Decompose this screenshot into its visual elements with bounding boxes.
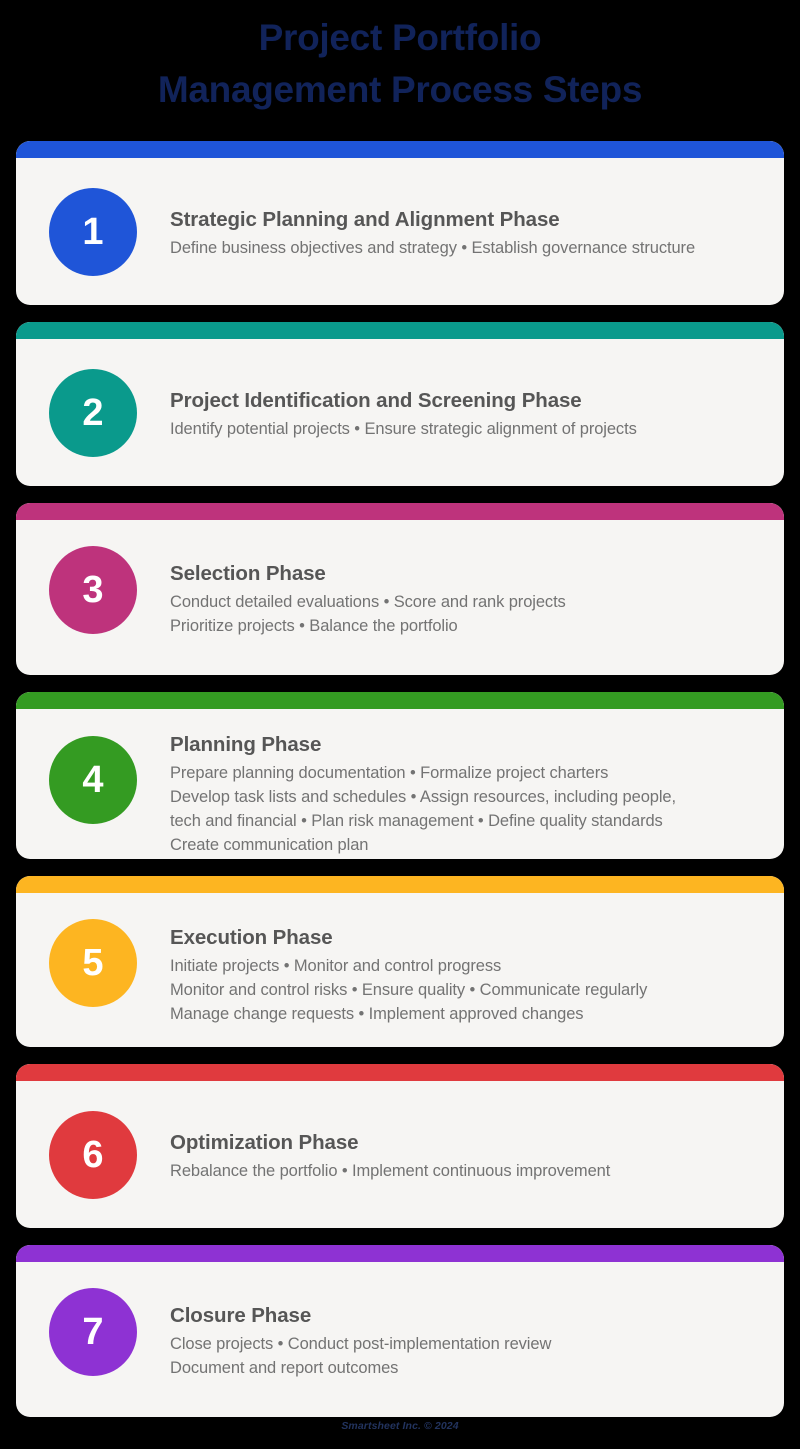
- step-card-1[interactable]: 1Strategic Planning and Alignment PhaseD…: [16, 141, 784, 305]
- step-text-container: Selection PhaseConduct detailed evaluati…: [170, 520, 784, 638]
- step-title: Closure Phase: [170, 1302, 758, 1329]
- page-title-line-1: Project Portfolio: [0, 12, 800, 64]
- step-card-2[interactable]: 2Project Identification and Screening Ph…: [16, 322, 784, 486]
- step-description-line: Monitor and control risks • Ensure quali…: [170, 978, 758, 1002]
- step-badge-container: 4: [16, 709, 170, 824]
- step-description-line: Document and report outcomes: [170, 1356, 758, 1380]
- step-card-body: 2Project Identification and Screening Ph…: [16, 322, 784, 457]
- steps-list: 1Strategic Planning and Alignment PhaseD…: [16, 141, 784, 1434]
- step-card-body: 5Execution PhaseInitiate projects • Moni…: [16, 876, 784, 1026]
- step-description-line: Conduct detailed evaluations • Score and…: [170, 590, 758, 614]
- step-description-line: Define business objectives and strategy …: [170, 236, 758, 260]
- step-card-5[interactable]: 5Execution PhaseInitiate projects • Moni…: [16, 876, 784, 1047]
- step-number-badge: 3: [49, 546, 137, 634]
- step-description-line: Rebalance the portfolio • Implement cont…: [170, 1159, 758, 1183]
- step-text-container: Planning PhasePrepare planning documenta…: [170, 709, 784, 857]
- step-badge-container: 6: [16, 1081, 170, 1199]
- step-card-body: 6Optimization PhaseRebalance the portfol…: [16, 1064, 784, 1199]
- step-text-container: Execution PhaseInitiate projects • Monit…: [170, 893, 784, 1026]
- page-title-line-2: Management Process Steps: [0, 64, 800, 116]
- step-description-line: Develop task lists and schedules • Assig…: [170, 785, 758, 809]
- step-card-body: 3Selection PhaseConduct detailed evaluat…: [16, 503, 784, 638]
- step-description-line: Prepare planning documentation • Formali…: [170, 761, 758, 785]
- step-title: Selection Phase: [170, 560, 758, 587]
- step-title: Execution Phase: [170, 924, 758, 951]
- step-description-line: Identify potential projects • Ensure str…: [170, 417, 758, 441]
- step-badge-container: 3: [16, 520, 170, 634]
- step-text-container: Closure PhaseClose projects • Conduct po…: [170, 1262, 784, 1380]
- step-badge-container: 7: [16, 1262, 170, 1376]
- step-card-3[interactable]: 3Selection PhaseConduct detailed evaluat…: [16, 503, 784, 675]
- step-description-line: Manage change requests • Implement appro…: [170, 1002, 758, 1026]
- step-description-line: Create communication plan: [170, 833, 758, 857]
- step-number-badge: 7: [49, 1288, 137, 1376]
- step-card-body: 4Planning PhasePrepare planning document…: [16, 692, 784, 857]
- step-number-badge: 5: [49, 919, 137, 1007]
- step-card-body: 7Closure PhaseClose projects • Conduct p…: [16, 1245, 784, 1380]
- page-title: Project Portfolio Management Process Ste…: [0, 12, 800, 116]
- step-card-body: 1Strategic Planning and Alignment PhaseD…: [16, 141, 784, 276]
- step-title: Planning Phase: [170, 731, 758, 758]
- step-number-badge: 2: [49, 369, 137, 457]
- step-number-badge: 1: [49, 188, 137, 276]
- step-number-badge: 6: [49, 1111, 137, 1199]
- step-title: Strategic Planning and Alignment Phase: [170, 206, 758, 233]
- step-badge-container: 1: [16, 158, 170, 276]
- step-text-container: Strategic Planning and Alignment PhaseDe…: [170, 158, 784, 260]
- step-badge-container: 5: [16, 893, 170, 1007]
- step-text-container: Optimization PhaseRebalance the portfoli…: [170, 1081, 784, 1183]
- step-description-line: Initiate projects • Monitor and control …: [170, 954, 758, 978]
- step-description-line: Close projects • Conduct post-implementa…: [170, 1332, 758, 1356]
- step-card-4[interactable]: 4Planning PhasePrepare planning document…: [16, 692, 784, 859]
- footer-attribution: Smartsheet Inc. © 2024: [0, 1420, 800, 1432]
- step-card-6[interactable]: 6Optimization PhaseRebalance the portfol…: [16, 1064, 784, 1228]
- step-title: Project Identification and Screening Pha…: [170, 387, 758, 414]
- step-description-line: tech and financial • Plan risk managemen…: [170, 809, 758, 833]
- infographic-root: Project Portfolio Management Process Ste…: [0, 0, 800, 1449]
- step-number-badge: 4: [49, 736, 137, 824]
- step-text-container: Project Identification and Screening Pha…: [170, 339, 784, 441]
- step-card-7[interactable]: 7Closure PhaseClose projects • Conduct p…: [16, 1245, 784, 1417]
- step-title: Optimization Phase: [170, 1129, 758, 1156]
- step-badge-container: 2: [16, 339, 170, 457]
- step-description-line: Prioritize projects • Balance the portfo…: [170, 614, 758, 638]
